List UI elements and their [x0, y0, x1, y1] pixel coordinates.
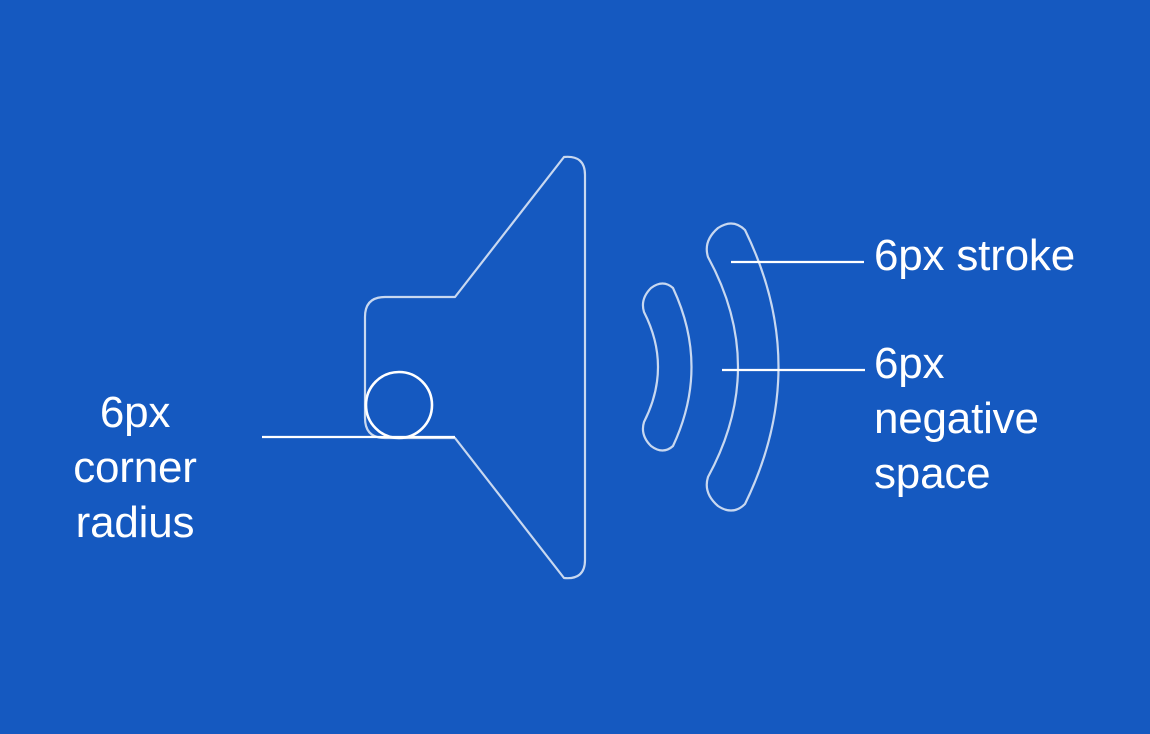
spec-diagram-canvas: 6px corner radius 6px stroke 6px negativ… — [0, 0, 1150, 734]
callout-negative-space: 6px negative space — [874, 336, 1124, 501]
callout-corner-radius: 6px corner radius — [10, 385, 260, 550]
speaker-body-outline — [365, 157, 585, 578]
sound-wave-inner-arc — [643, 284, 692, 451]
corner-radius-circle — [366, 372, 432, 438]
sound-wave-outer-arc — [707, 223, 779, 510]
callout-stroke: 6px stroke — [874, 228, 1134, 283]
